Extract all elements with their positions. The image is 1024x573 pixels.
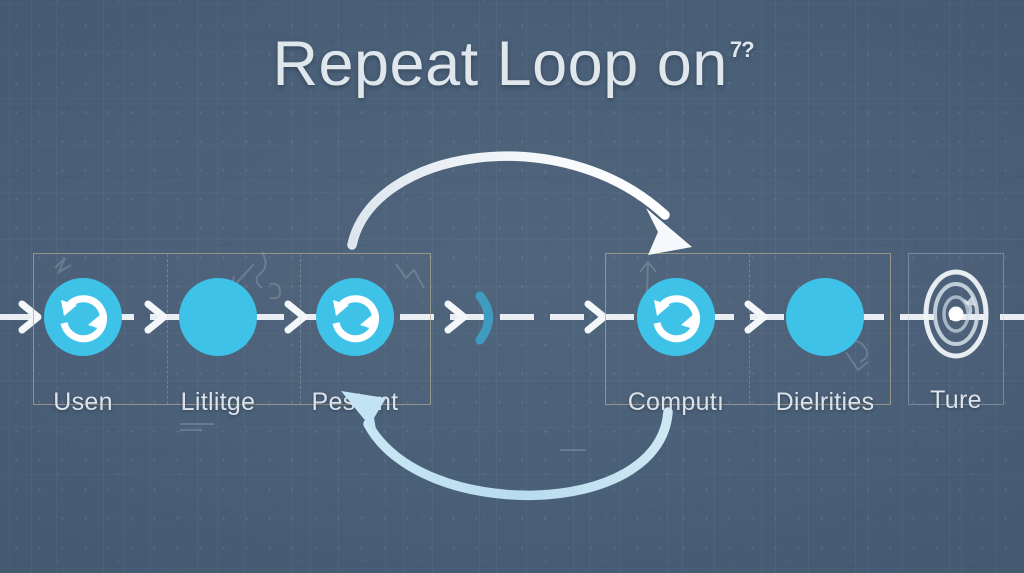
node-label: Pestent bbox=[292, 388, 418, 417]
node-ture[interactable]: Ture bbox=[893, 268, 1019, 428]
node-usen[interactable]: Usen bbox=[20, 278, 146, 428]
solid-circle-icon bbox=[786, 278, 864, 356]
refresh-loop-icon bbox=[637, 278, 715, 356]
chevron-icon bbox=[588, 304, 604, 330]
cell-divider bbox=[749, 254, 750, 404]
solid-circle-icon bbox=[179, 278, 257, 356]
node-computi[interactable]: Computı bbox=[613, 278, 739, 428]
refresh-loop-icon bbox=[316, 278, 394, 356]
node-dielrities[interactable]: Dielrities bbox=[762, 278, 888, 428]
node-label: Litlitge bbox=[155, 388, 281, 417]
diagram-canvas: Repeat Loop on7? bbox=[0, 0, 1024, 573]
node-label: Dielrities bbox=[762, 388, 888, 417]
orbit-spiral-icon bbox=[910, 268, 1002, 360]
refresh-loop-icon bbox=[44, 278, 122, 356]
node-label: Computı bbox=[613, 388, 739, 417]
node-label: Usen bbox=[20, 388, 146, 417]
node-litlitge[interactable]: Litlitge bbox=[155, 278, 281, 428]
node-pestent[interactable]: Pestent bbox=[292, 278, 418, 428]
node-label: Ture bbox=[893, 386, 1019, 415]
